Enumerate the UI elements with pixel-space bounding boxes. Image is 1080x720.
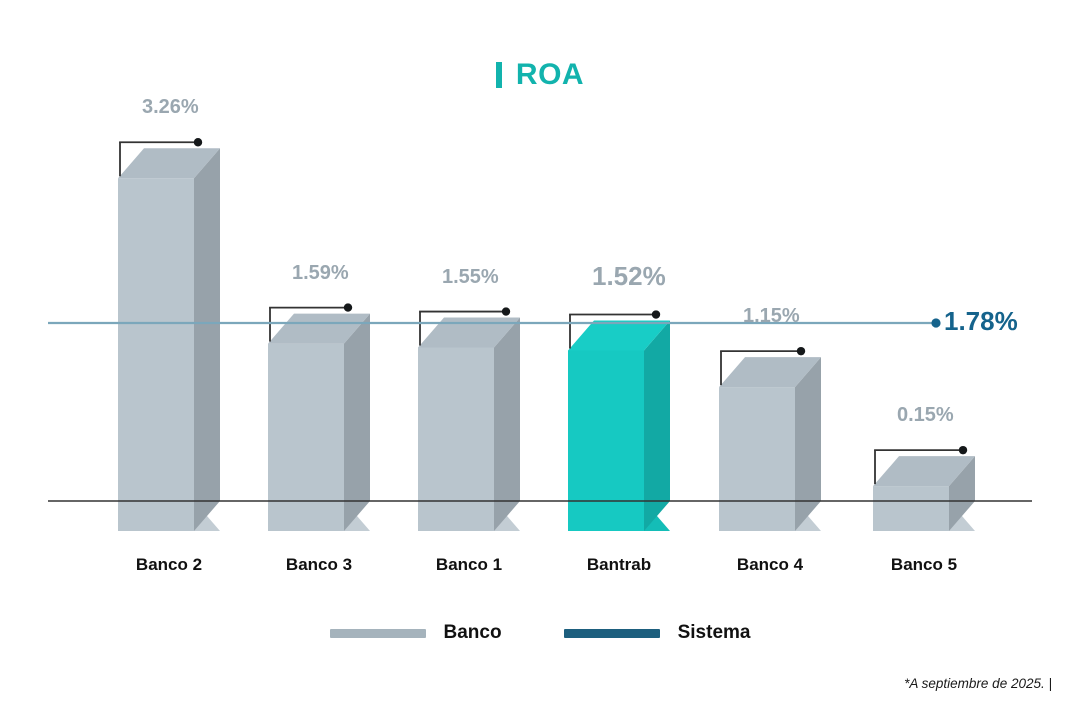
bar-right-face (795, 357, 821, 531)
bar-front-face (418, 348, 494, 531)
category-label-banco-4: Banco 4 (690, 555, 850, 575)
system-line-endpoint-dot (931, 318, 940, 327)
category-label-banco-5: Banco 5 (844, 555, 1004, 575)
bar-right-face (644, 321, 670, 531)
bar-front-face (268, 344, 344, 531)
value-label-banco-4: 1.15% (743, 305, 800, 328)
legend-label-sistema: Sistema (678, 622, 751, 644)
legend-label-banco: Banco (444, 622, 502, 644)
bar-banco-2[interactable] (118, 148, 220, 531)
leader-endpoint-dot (797, 347, 805, 355)
legend-item-banco[interactable]: Banco (330, 622, 502, 644)
leader-endpoint-dot (652, 310, 660, 318)
value-label-banco-3: 1.59% (292, 262, 349, 285)
value-label-bantrab: 1.52% (592, 261, 666, 292)
bar-right-face (494, 318, 520, 531)
bar-right-face (194, 148, 220, 531)
leader-endpoint-dot (194, 138, 202, 146)
legend-item-sistema[interactable]: Sistema (564, 622, 751, 644)
bar-banco-3[interactable] (268, 314, 370, 531)
value-label-banco-2: 3.26% (142, 96, 199, 119)
leader-endpoint-dot (959, 446, 967, 454)
chart-legend: Banco Sistema (0, 622, 1080, 644)
bar-bantrab[interactable] (568, 321, 670, 531)
legend-swatch-sistema-icon (564, 629, 660, 638)
value-label-banco-1: 1.55% (442, 266, 499, 289)
footnote: *A septiembre de 2025. | (904, 676, 1052, 691)
value-label-banco-5: 0.15% (897, 404, 954, 427)
bar-right-face (344, 314, 370, 531)
bars-layer (118, 148, 975, 531)
category-label-banco-1: Banco 1 (389, 555, 549, 575)
leader-lines-layer (119, 138, 967, 484)
bar-front-face (873, 486, 949, 531)
category-label-bantrab: Bantrab (539, 555, 699, 575)
bar-front-face (719, 387, 795, 531)
chart-root: ROA 3.26%1.59%1.55%1.52%1.15%0.15% Banco… (0, 0, 1080, 720)
system-value-label: 1.78% (944, 306, 1018, 337)
bar-banco-4[interactable] (719, 357, 821, 531)
bar-front-face (568, 351, 644, 531)
bar-banco-1[interactable] (418, 318, 520, 531)
leader-endpoint-dot (502, 307, 510, 315)
bar-banco-5[interactable] (873, 456, 975, 531)
category-label-banco-3: Banco 3 (239, 555, 399, 575)
bar-front-face (118, 178, 194, 531)
legend-swatch-banco-icon (330, 629, 426, 638)
category-label-banco-2: Banco 2 (89, 555, 249, 575)
leader-endpoint-dot (344, 303, 352, 311)
